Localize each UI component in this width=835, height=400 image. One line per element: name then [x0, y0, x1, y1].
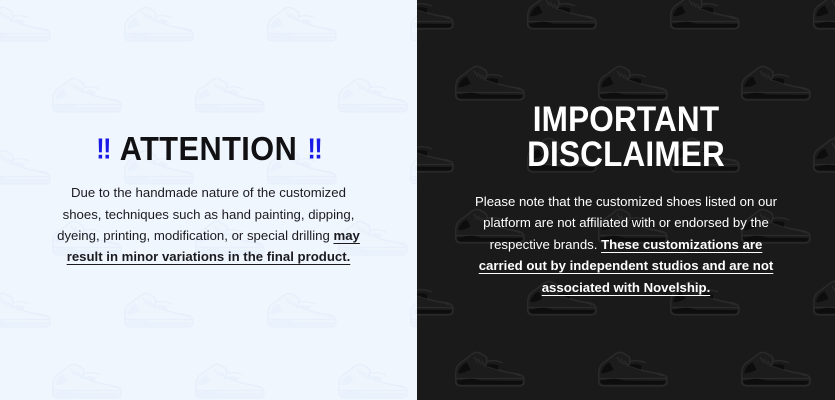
disclaimer-panel: IMPORTANT DISCLAIMER Please note that th…: [417, 0, 835, 400]
double-exclamation-icon-right: ‼: [307, 136, 320, 164]
disclaimer-heading-line-2: DISCLAIMER: [452, 137, 799, 172]
attention-body-normal: Due to the handmade nature of the custom…: [57, 185, 354, 243]
double-exclamation-icon-left: ‼: [96, 136, 109, 164]
attention-heading: ‼ATTENTION‼: [29, 132, 387, 165]
attention-body-text: Due to the handmade nature of the custom…: [51, 182, 366, 268]
disclaimer-heading: IMPORTANT DISCLAIMER: [452, 102, 799, 172]
attention-panel: ‼ATTENTION‼ Due to the handmade nature o…: [0, 0, 417, 400]
disclaimer-content: IMPORTANT DISCLAIMER Please note that th…: [417, 102, 835, 298]
attention-heading-text: ATTENTION: [110, 132, 308, 165]
disclaimer-heading-line-1: IMPORTANT: [452, 102, 799, 137]
attention-content: ‼ATTENTION‼ Due to the handmade nature o…: [0, 132, 417, 268]
disclaimer-body-text: Please note that the customized shoes li…: [466, 191, 786, 298]
customization-notice-banner: ‼ATTENTION‼ Due to the handmade nature o…: [0, 0, 835, 400]
